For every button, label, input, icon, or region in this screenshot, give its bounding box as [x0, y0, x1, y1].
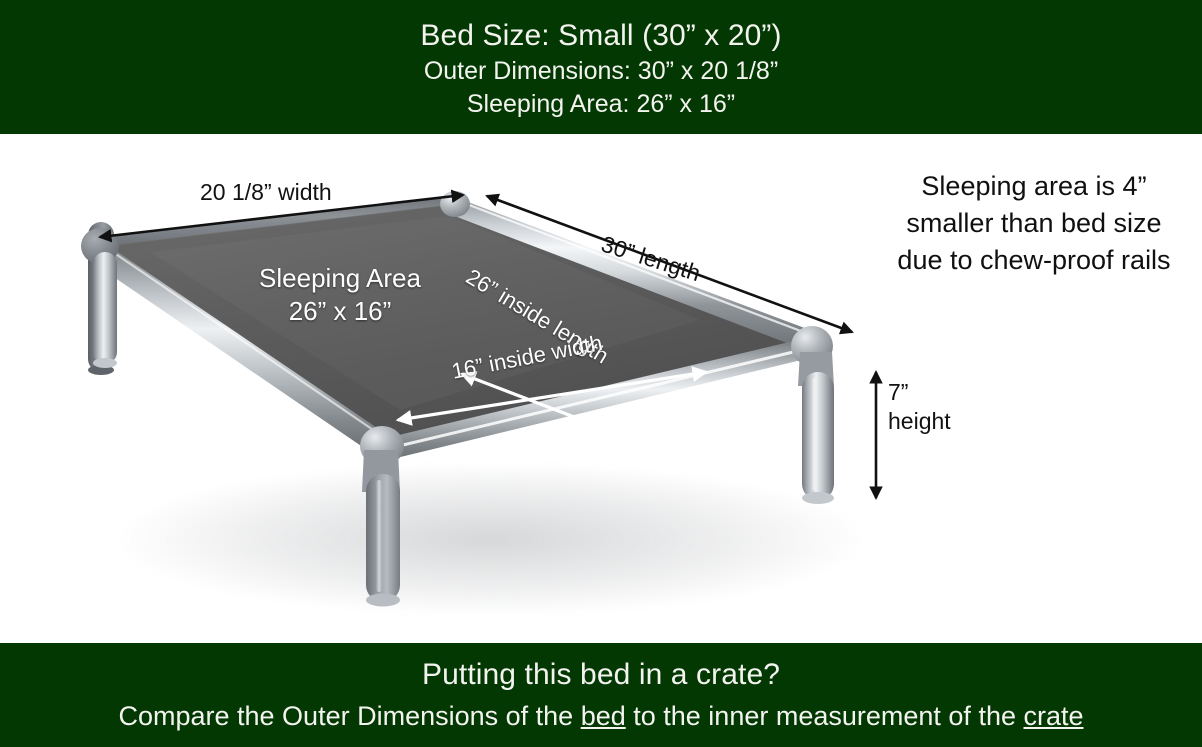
- illustration-area: Sleeping area is 4” smaller than bed siz…: [0, 134, 1202, 643]
- leg-front-left: [93, 252, 117, 368]
- leg-front-center: [362, 450, 400, 607]
- crate-compare-text: Compare the Outer Dimensions of the bed …: [118, 696, 1083, 736]
- outer-dimensions-text: Outer Dimensions: 30” x 20 1/8”: [424, 55, 778, 88]
- dog-bed-illustration: Sleeping Area 26” x 16” 20 1/8” width 30…: [0, 134, 1202, 643]
- label-outer-width: 20 1/8” width: [200, 179, 332, 206]
- compare-text-part-1: Compare the Outer Dimensions of the: [118, 701, 580, 731]
- mesh-label-line-2: 26” x 16”: [205, 295, 475, 328]
- bed-size-title: Bed Size: Small (30” x 20”): [420, 17, 781, 55]
- top-banner: Bed Size: Small (30” x 20”) Outer Dimens…: [0, 0, 1202, 134]
- sleeping-area-text: Sleeping Area: 26” x 16”: [467, 88, 735, 121]
- sleeping-area-mesh-label: Sleeping Area 26” x 16”: [205, 262, 475, 328]
- label-height: 7” height: [888, 378, 951, 436]
- bottom-banner: Putting this bed in a crate? Compare the…: [0, 643, 1202, 747]
- compare-text-part-2: to the inner measurement of the: [626, 701, 1024, 731]
- bed-svg: [0, 134, 1202, 643]
- crate-question-title: Putting this bed in a crate?: [422, 654, 780, 696]
- leg-right: [798, 352, 834, 504]
- label-height-unit: height: [888, 407, 951, 436]
- mesh-label-line-1: Sleeping Area: [205, 262, 475, 295]
- compare-text-crate: crate: [1023, 701, 1083, 731]
- compare-text-bed: bed: [581, 701, 626, 731]
- label-height-value: 7”: [888, 378, 951, 407]
